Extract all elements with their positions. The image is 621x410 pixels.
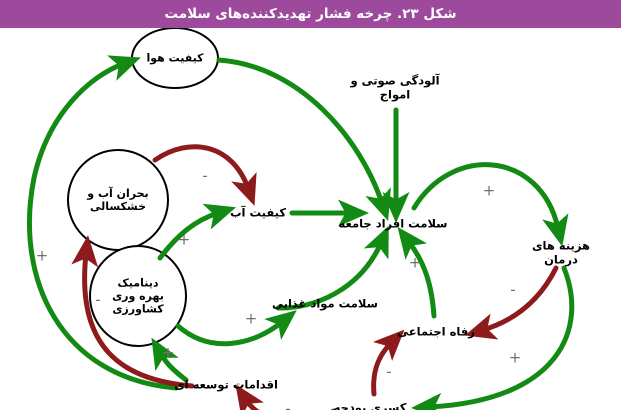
node-label-social-welfare[interactable]: رفاه اجتماعی xyxy=(397,325,475,339)
node-label-water-quality[interactable]: کیفیت آب xyxy=(230,206,286,220)
node-label-water-crisis[interactable]: بحران آب و خشکسالی xyxy=(87,187,148,213)
sign-agri-to-water-quality: + xyxy=(178,233,191,248)
node-label-air-quality[interactable]: کیفیت هوا xyxy=(146,52,203,65)
node-label-food-safety[interactable]: سلامت مواد غذایی xyxy=(272,297,378,311)
node-label-treatment-costs[interactable]: هزینه های درمان xyxy=(531,240,591,267)
sign-dev-to-agri: + xyxy=(162,346,175,361)
sign-water-crisis-to-water-quality: - xyxy=(202,169,207,184)
node-label-community-health[interactable]: سلامت افراد جامعه xyxy=(338,217,447,231)
node-label-agri-dynamics[interactable]: دینامیک بهره وری کشاورزی xyxy=(112,277,164,316)
sign-agri-to-food-safety: + xyxy=(245,312,258,327)
page-title: شکل ۲۳. چرخه فشار تهدیدکننده‌های سلامت xyxy=(164,6,456,22)
figure-page: شکل ۲۳. چرخه فشار تهدیدکننده‌های سلامت xyxy=(0,0,621,410)
sign-costs-to-deficit: + xyxy=(509,351,522,366)
diagram-canvas: کیفیت هوا بحران آب و خشکسالی دینامیک بهر… xyxy=(0,28,621,410)
node-label-development-actions[interactable]: اقدامات توسعه ای xyxy=(174,378,278,392)
sign-costs-to-welfare: - xyxy=(510,283,515,298)
node-label-noise-pollution[interactable]: آلودگی صوتی و امواج xyxy=(350,75,439,102)
node-label-budget-deficit[interactable]: کسری بودجه xyxy=(334,401,407,410)
link-treatment-costs-to-social-welfare xyxy=(483,268,556,330)
sign-deficit-to-development: - xyxy=(285,402,290,410)
causal-loop-svg xyxy=(0,28,621,410)
figure-title-bar: شکل ۲۳. چرخه فشار تهدیدکننده‌های سلامت xyxy=(0,0,621,28)
sign-deficit-to-welfare: - xyxy=(386,365,391,380)
sign-social-welfare-to-health: + xyxy=(409,256,422,271)
sign-dev-to-air-quality: + xyxy=(36,249,49,264)
sign-health-to-costs: + xyxy=(483,184,496,199)
sign-dev-to-water-crisis: - xyxy=(95,293,100,308)
link-agri-dynamics-to-food-safety xyxy=(178,322,282,344)
